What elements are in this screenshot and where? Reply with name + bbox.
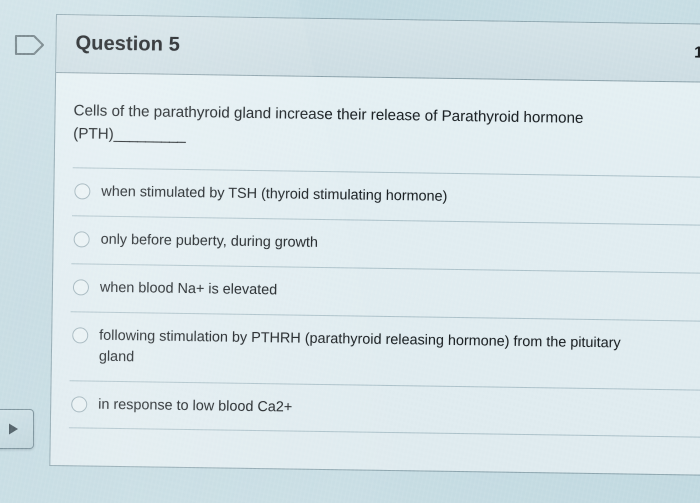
question-blank: _________ — [114, 126, 186, 144]
answer-option-label: when blood Na+ is elevated — [100, 278, 278, 302]
answer-option-label: when stimulated by TSH (thyroid stimulat… — [101, 182, 447, 208]
play-triangle-icon — [5, 421, 21, 437]
radio-button-icon[interactable] — [71, 396, 87, 412]
answer-option-label: following stimulation by PTHRH (parathyr… — [99, 325, 660, 375]
radio-button-icon[interactable] — [73, 279, 89, 295]
answer-options-list: when stimulated by TSH (thyroid stimulat… — [69, 167, 700, 438]
question-title: Question 5 — [75, 32, 180, 57]
radio-button-icon[interactable] — [74, 183, 90, 199]
play-next-button[interactable] — [0, 409, 34, 449]
question-body: Cells of the parathyroid gland increase … — [51, 73, 700, 439]
answer-option-label: only before puberty, during growth — [100, 230, 318, 254]
question-text: Cells of the parathyroid gland increase … — [73, 99, 654, 154]
flag-outline-icon — [12, 30, 46, 60]
screen-photo: Question 5 1 pts Cells of the parathyroi… — [0, 0, 700, 503]
radio-button-icon[interactable] — [74, 231, 90, 247]
answer-option-label: in response to low blood Ca2+ — [98, 394, 292, 418]
question-points: 1 pts — [694, 44, 700, 63]
answer-option-5[interactable]: in response to low blood Ca2+ — [69, 380, 700, 439]
question-header: Question 5 1 pts — [56, 15, 700, 83]
answer-option-4[interactable]: following stimulation by PTHRH (parathyr… — [70, 311, 700, 389]
question-card: Question 5 1 pts Cells of the parathyroi… — [49, 14, 700, 476]
radio-button-icon[interactable] — [72, 327, 88, 343]
